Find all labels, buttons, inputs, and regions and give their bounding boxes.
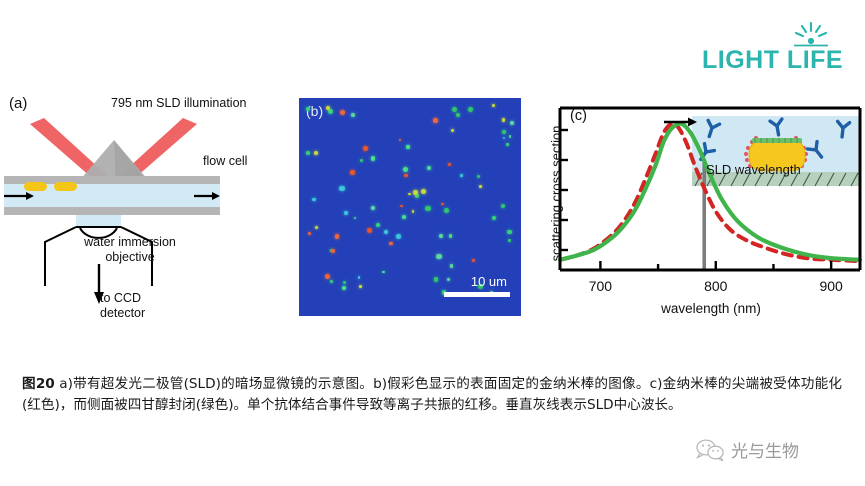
nanorod-dot xyxy=(501,204,505,208)
nanorod-dot xyxy=(413,190,418,195)
nanorod-dot xyxy=(510,121,514,125)
panel-c-spectrum-plot: (c) SLD wavelength scattering cross sect… xyxy=(534,98,864,324)
nanorod-dot xyxy=(331,249,335,253)
nanorod-dot xyxy=(477,175,480,178)
nanorod-dot xyxy=(502,118,505,121)
flow-cell-label: flow cell xyxy=(203,154,247,168)
brand-wordmark: LIGHT LIFE xyxy=(702,46,843,75)
nanorod-dot xyxy=(358,276,360,278)
nanorod-dot xyxy=(447,278,451,282)
wechat-account-name: 光与生物 xyxy=(731,437,799,462)
illumination-label: 795 nm SLD illumination xyxy=(111,96,247,110)
nanorod-dot xyxy=(342,286,346,290)
wechat-footer: 光与生物 xyxy=(695,436,845,466)
nanorod-dot xyxy=(400,205,402,207)
nanorod-dot xyxy=(427,166,431,170)
nanorod-dot xyxy=(371,206,375,210)
nanorod-dot xyxy=(509,135,512,138)
nanorod-dot xyxy=(449,234,453,238)
panel-a-schematic: (a) 795 nm SLD illumination flow cell wa… xyxy=(4,92,290,332)
nanorod-dot xyxy=(451,129,454,132)
nanorod-dot xyxy=(330,280,333,283)
nanorod-dot xyxy=(389,242,392,245)
nanorod-dot xyxy=(492,104,495,107)
nanorod-dot xyxy=(508,239,511,242)
nanorod-dot xyxy=(460,174,463,177)
nanorod-dot xyxy=(507,230,511,234)
nanorod-dot xyxy=(472,259,476,263)
scale-bar-label: 10 um xyxy=(471,274,507,289)
nanorod-dot xyxy=(433,118,437,122)
nanorod-dot xyxy=(326,106,330,110)
nanorod-dot xyxy=(450,264,454,268)
caption-text: a)带有超发光二极管(SLD)的暗场显微镜的示意图。b)假彩色显示的表面固定的金… xyxy=(22,376,842,413)
nanorod-dot xyxy=(354,217,356,219)
nanorod-dot xyxy=(456,113,460,117)
nanorod-dot xyxy=(340,110,345,115)
nanorod-dot xyxy=(468,107,473,112)
nanorod-dot xyxy=(344,211,348,215)
nanorod-dot xyxy=(306,151,310,155)
nanorod-dot xyxy=(351,113,355,117)
nanorod-dot xyxy=(312,198,315,201)
y-axis-label: scattering cross section xyxy=(549,109,564,279)
panel-b-darkfield-image: (b) 10 um xyxy=(299,98,521,316)
wechat-icon xyxy=(695,438,725,462)
nanorod-dot xyxy=(452,107,457,112)
nanorod-dot xyxy=(371,156,375,160)
nanorod-dot xyxy=(308,232,311,235)
x-axis-label: wavelength (nm) xyxy=(586,301,836,316)
nanorod-dot xyxy=(436,254,441,259)
nanorod-dot xyxy=(448,163,451,166)
nanorod-dot xyxy=(441,203,443,205)
nanorod-dot xyxy=(335,234,340,239)
nanorod-dot xyxy=(412,210,414,212)
nanorod-dot xyxy=(360,159,363,162)
nanorod-dot xyxy=(503,137,505,139)
flow-cell-bottom-wall xyxy=(4,207,220,215)
sld-wavelength-label: SLD wavelength xyxy=(706,162,801,177)
peg-coating xyxy=(752,138,802,143)
immersion-water xyxy=(76,215,121,227)
nanorod-dot xyxy=(425,206,430,211)
figure-caption: 图20 a)带有超发光二极管(SLD)的暗场显微镜的示意图。b)假彩色显示的表面… xyxy=(22,374,842,416)
nanorod-dot xyxy=(506,143,509,146)
nanorod-dot xyxy=(434,277,438,281)
nanorod-dot xyxy=(382,271,385,274)
panel-b-tag: (b) xyxy=(306,103,323,119)
nanorod-dot xyxy=(403,167,408,172)
nanorod-dot xyxy=(404,174,407,177)
spectrum-chart xyxy=(534,98,864,324)
nanorod-dot xyxy=(315,226,318,229)
nanorod-dot xyxy=(479,185,482,188)
x-tick-label: 800 xyxy=(704,278,727,294)
panel-c-tag: (c) xyxy=(570,108,587,124)
nanorod-dot xyxy=(492,216,496,220)
detector-label: to CCD detector xyxy=(100,291,192,321)
x-tick-label: 700 xyxy=(589,278,612,294)
nanorod-dot xyxy=(421,189,426,194)
nanorod-dot xyxy=(439,234,443,238)
brand-logo: LIGHT LIFE xyxy=(697,24,847,72)
scale-bar xyxy=(444,292,510,297)
nanorod-dot xyxy=(399,139,401,141)
nanorod-dot xyxy=(350,170,355,175)
nanorod-dot xyxy=(402,215,406,219)
nanorod-dot xyxy=(444,208,449,213)
figure-number: 图20 xyxy=(22,376,55,392)
nanorod-dot xyxy=(363,146,368,151)
nanorod-dot xyxy=(384,230,389,235)
nanorod-dot xyxy=(367,228,372,233)
nanorod-dot xyxy=(396,234,401,239)
nanorod-dot xyxy=(502,130,506,134)
nanorod-dot xyxy=(325,274,330,279)
nanorod-dot xyxy=(339,186,344,191)
nanorod-dot xyxy=(306,107,310,111)
x-tick-label: 900 xyxy=(819,278,842,294)
nanorod-dot xyxy=(408,193,410,195)
nanorod-dot xyxy=(376,223,380,227)
nanorod-dot xyxy=(343,281,346,284)
nanorod-dot xyxy=(314,151,318,155)
nanorod-dot xyxy=(359,285,362,288)
nanorod-dot xyxy=(406,145,409,148)
panel-a-tag: (a) xyxy=(9,95,27,112)
objective-label: water immersion objective xyxy=(55,235,205,265)
